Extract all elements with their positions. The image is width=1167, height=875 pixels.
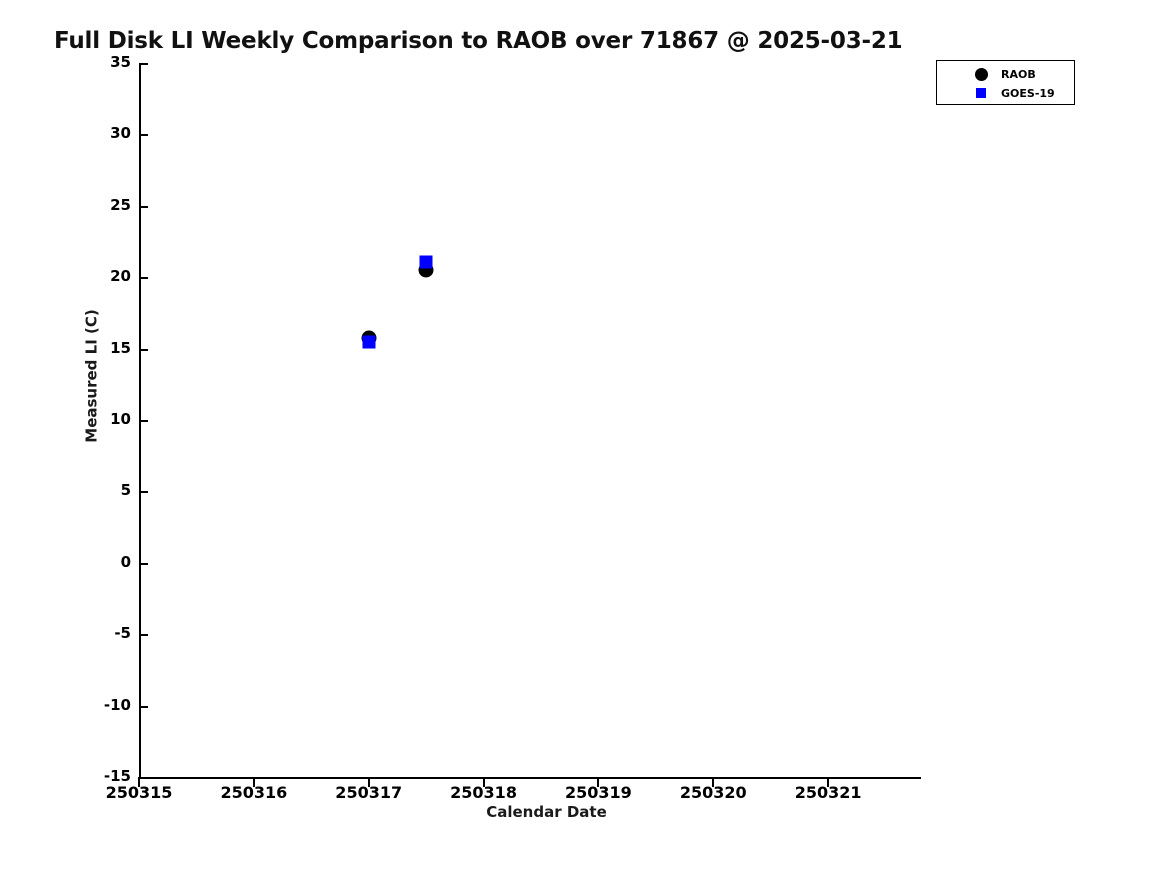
y-tick-mark <box>139 491 148 493</box>
x-tick-label: 250321 <box>795 783 862 802</box>
legend-label-raob: RAOB <box>1001 68 1036 81</box>
y-tick-mark <box>139 349 148 351</box>
square-marker-icon <box>963 88 999 98</box>
y-tick-mark <box>139 63 148 65</box>
x-tick-label: 250320 <box>680 783 747 802</box>
x-axis-label: Calendar Date <box>0 803 1167 821</box>
y-axis-label-text: Measured LI (C) <box>83 309 101 442</box>
y-tick-mark <box>139 634 148 636</box>
data-point-goes-19 <box>362 336 375 349</box>
y-axis-label: Measured LI (C) <box>0 0 128 875</box>
y-tick-mark <box>139 206 148 208</box>
data-point-goes-19 <box>420 256 433 269</box>
legend-label-goes19: GOES-19 <box>1001 87 1055 100</box>
x-tick-label: 250318 <box>450 783 517 802</box>
y-tick-mark <box>139 134 148 136</box>
chart-container: Full Disk LI Weekly Comparison to RAOB o… <box>0 0 1167 875</box>
x-tick-label: 250316 <box>220 783 287 802</box>
y-tick-mark <box>139 277 148 279</box>
chart-title: Full Disk LI Weekly Comparison to RAOB o… <box>54 28 902 54</box>
circle-marker-icon <box>963 68 999 81</box>
y-tick-mark <box>139 563 148 565</box>
x-axis-line <box>139 777 921 779</box>
y-tick-mark <box>139 420 148 422</box>
x-tick-label: 250319 <box>565 783 632 802</box>
x-axis-label-text: Calendar Date <box>486 803 607 821</box>
y-tick-mark <box>139 777 148 779</box>
x-tick-label: 250317 <box>335 783 402 802</box>
legend: RAOB GOES-19 <box>936 60 1075 105</box>
legend-entry-raob: RAOB <box>937 64 1074 84</box>
legend-entry-goes19: GOES-19 <box>937 83 1074 103</box>
y-tick-mark <box>139 706 148 708</box>
